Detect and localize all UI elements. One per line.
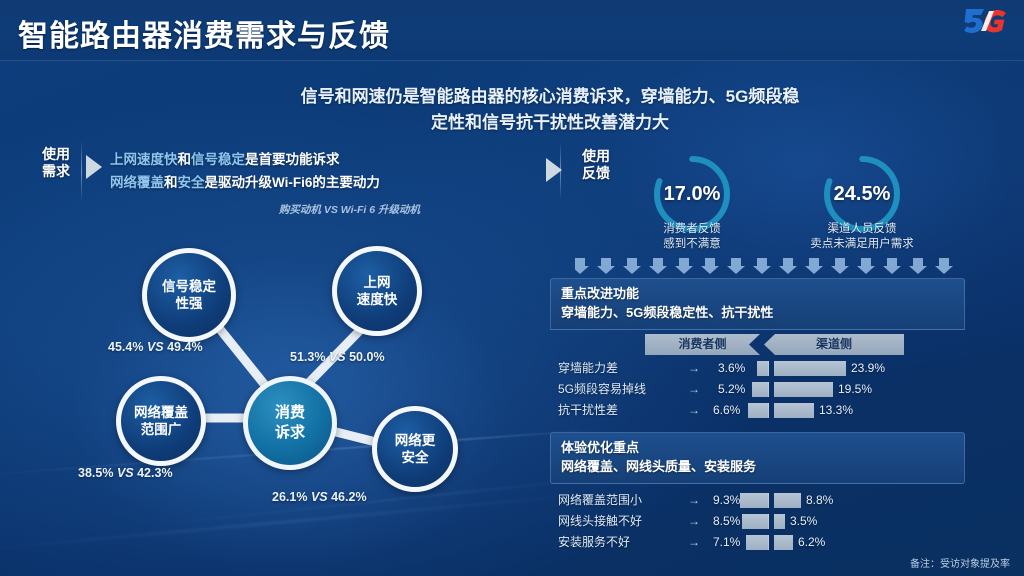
table-row: 网线头接触不好 → 8.5% 3.5% [550, 511, 965, 532]
node-internet-speed-line-1: 上网 [357, 274, 398, 291]
node-network-security[interactable]: 网络更 安全 [372, 406, 458, 492]
panel-key-improvements-subtitle: 穿墙能力、5G频段稳定性、抗干扰性 [561, 303, 954, 323]
row-right-value: 6.2% [798, 532, 825, 553]
panel-key-improvements: 重点改进功能 穿墙能力、5G频段稳定性、抗干扰性 消费者侧 渠道侧 穿墙能力差 … [550, 278, 965, 421]
arrow-right-icon: → [688, 358, 700, 379]
node-center-consumer-demand[interactable]: 消费 诉求 [243, 376, 337, 470]
row-left-value: 5.2% [718, 379, 745, 400]
node-signal-stability-line-1: 信号稳定 [162, 278, 216, 295]
node-internet-speed-line-2: 速度快 [357, 291, 398, 308]
need-bullet-1: 上网速度快和信号稳定是首要功能诉求 [110, 148, 420, 171]
consumer-demand-node-diagram: 信号稳定 性强 45.4% VS 49.4% 上网 速度快 51.3% VS 5… [80, 228, 530, 528]
panel-key-improvements-title: 重点改进功能 [561, 284, 954, 303]
node-network-coverage-value: 38.5% VS 42.3% [78, 466, 173, 480]
panel-key-improvements-column-headers: 消费者侧 渠道侧 [550, 334, 965, 355]
node-network-coverage-line-1: 网络覆盖 [134, 404, 188, 421]
caption-line-2: 感到不满意 [618, 237, 766, 252]
subtitle-line-1: 信号和网速仍是智能路由器的核心消费诉求，穿墙能力、5G频段稳 [200, 84, 900, 110]
caption-line-1: 渠道人员反馈 [786, 222, 938, 237]
node-network-coverage[interactable]: 网络覆盖 范围广 [116, 376, 206, 466]
row-right-bar [774, 514, 785, 529]
row-left-bar [757, 361, 769, 376]
center-node-line-2: 诉求 [275, 423, 305, 443]
row-left-bar [752, 382, 769, 397]
row-right-bar [774, 493, 801, 508]
row-left-bar [746, 535, 769, 550]
row-right-value: 3.5% [790, 511, 817, 532]
feedback-section-label: 使用 反馈 [578, 148, 614, 182]
row-left-bar [740, 493, 769, 508]
node-network-security-line-2: 安全 [395, 449, 436, 466]
row-label: 穿墙能力差 [558, 358, 618, 379]
feedback-label-line-1: 使用 [578, 148, 614, 165]
donut-channel-feedback-caption: 渠道人员反馈 卖点未满足用户需求 [786, 222, 938, 252]
need-bullet-1-highlight-a: 上网速度快 [110, 152, 178, 167]
table-row: 穿墙能力差 → 3.6% 23.9% [550, 358, 965, 379]
5g-logo-icon [962, 6, 1012, 36]
need-bullet-1-highlight-b: 信号稳定 [191, 152, 245, 167]
panel-key-improvements-header: 重点改进功能 穿墙能力、5G频段稳定性、抗干扰性 [550, 278, 965, 330]
row-right-value: 8.8% [806, 490, 833, 511]
column-header-channel-side: 渠道侧 [764, 334, 904, 355]
arrow-right-icon: → [688, 400, 700, 421]
need-bullet-1-conj: 和 [178, 152, 192, 167]
row-label: 5G频段容易掉线 [558, 379, 646, 400]
need-divider [81, 140, 82, 202]
table-row: 5G频段容易掉线 → 5.2% 19.5% [550, 379, 965, 400]
arrow-right-icon: → [688, 511, 700, 532]
panel-key-improvements-rows: 穿墙能力差 → 3.6% 23.9% 5G频段容易掉线 → 5.2% 19.5%… [550, 355, 965, 421]
node-network-security-value: 26.1% VS 46.2% [272, 490, 367, 504]
triangle-right-icon [86, 155, 102, 179]
node-signal-stability[interactable]: 信号稳定 性强 [142, 248, 236, 342]
row-left-value: 6.6% [713, 400, 740, 421]
row-right-value: 13.3% [819, 400, 853, 421]
page-title: 智能路由器消费需求与反馈 [18, 11, 390, 55]
row-left-bar [742, 514, 769, 529]
donut-consumer-feedback-caption: 消费者反馈 感到不满意 [618, 222, 766, 252]
node-network-security-line-1: 网络更 [395, 432, 436, 449]
node-internet-speed-value: 51.3% VS 50.0% [290, 350, 385, 364]
need-bullet-2-highlight-b: 安全 [178, 175, 205, 190]
down-arrow-strip-icon [575, 258, 965, 274]
arrow-right-icon: → [688, 490, 700, 511]
need-source-note: 购买动机 VS Wi-Fi 6 升级动机 [110, 202, 420, 217]
need-bullet-2-tail: 是驱动升级Wi-Fi6的主要动力 [205, 175, 380, 190]
row-right-bar [774, 535, 793, 550]
table-row: 安装服务不好 → 7.1% 6.2% [550, 532, 965, 553]
need-bullet-2-highlight-a: 网络覆盖 [110, 175, 164, 190]
row-label: 安装服务不好 [558, 532, 630, 553]
panel-experience-optimization-rows: 网络覆盖范围小 → 9.3% 8.8% 网线头接触不好 → 8.5% 3.5% … [550, 484, 965, 553]
need-label-line-2: 需求 [38, 163, 74, 180]
row-right-bar [774, 403, 814, 418]
row-left-value: 9.3% [713, 490, 740, 511]
row-label: 抗干扰性差 [558, 400, 618, 421]
arrow-right-icon: → [688, 532, 700, 553]
panel-experience-optimization-subtitle: 网络覆盖、网线头质量、安装服务 [561, 457, 954, 477]
panel-experience-optimization-title: 体验优化重点 [561, 438, 954, 457]
arrow-right-icon: → [688, 379, 700, 400]
need-section-label: 使用 需求 [38, 146, 74, 180]
row-label: 网线头接触不好 [558, 511, 642, 532]
row-right-value: 23.9% [851, 358, 885, 379]
table-row: 抗干扰性差 → 6.6% 13.3% [550, 400, 965, 421]
row-left-bar [748, 403, 769, 418]
need-bullet-2-conj: 和 [164, 175, 178, 190]
panel-experience-optimization: 体验优化重点 网络覆盖、网线头质量、安装服务 网络覆盖范围小 → 9.3% 8.… [550, 432, 965, 553]
row-left-value: 8.5% [713, 511, 740, 532]
need-bullet-1-tail: 是首要功能诉求 [245, 152, 340, 167]
column-header-consumer-side: 消费者侧 [645, 334, 760, 355]
caption-line-1: 消费者反馈 [618, 222, 766, 237]
row-right-value: 19.5% [838, 379, 872, 400]
row-right-bar [774, 382, 833, 397]
row-left-value: 3.6% [718, 358, 745, 379]
row-right-bar [774, 361, 846, 376]
panel-experience-optimization-header: 体验优化重点 网络覆盖、网线头质量、安装服务 [550, 432, 965, 484]
row-left-value: 7.1% [713, 532, 740, 553]
node-network-coverage-line-2: 范围广 [134, 421, 188, 438]
center-node-line-1: 消费 [275, 403, 305, 423]
node-signal-stability-line-2: 性强 [162, 295, 216, 312]
header-bar: 智能路由器消费需求与反馈 [0, 0, 1024, 61]
subtitle-line-2: 定性和信号抗干扰性改善潜力大 [200, 110, 900, 136]
need-label-line-1: 使用 [38, 146, 74, 163]
slide-canvas: 智能路由器消费需求与反馈 信号和网速仍是智能路由器的核心消费诉求，穿墙能力、5G… [0, 0, 1024, 576]
need-bullet-2: 网络覆盖和安全是驱动升级Wi-Fi6的主要动力 [110, 171, 420, 194]
node-internet-speed[interactable]: 上网 速度快 [332, 246, 422, 336]
triangle-right-icon [546, 158, 562, 182]
need-bullets: 上网速度快和信号稳定是首要功能诉求 网络覆盖和安全是驱动升级Wi-Fi6的主要动… [110, 148, 420, 194]
row-label: 网络覆盖范围小 [558, 490, 642, 511]
node-signal-stability-value: 45.4% VS 49.4% [108, 340, 203, 354]
caption-line-2: 卖点未满足用户需求 [786, 237, 938, 252]
subtitle: 信号和网速仍是智能路由器的核心消费诉求，穿墙能力、5G频段稳 定性和信号抗干扰性… [200, 84, 900, 136]
feedback-label-line-2: 反馈 [578, 165, 614, 182]
table-row: 网络覆盖范围小 → 9.3% 8.8% [550, 490, 965, 511]
footnote: 备注：受访对象提及率 [910, 555, 1010, 570]
